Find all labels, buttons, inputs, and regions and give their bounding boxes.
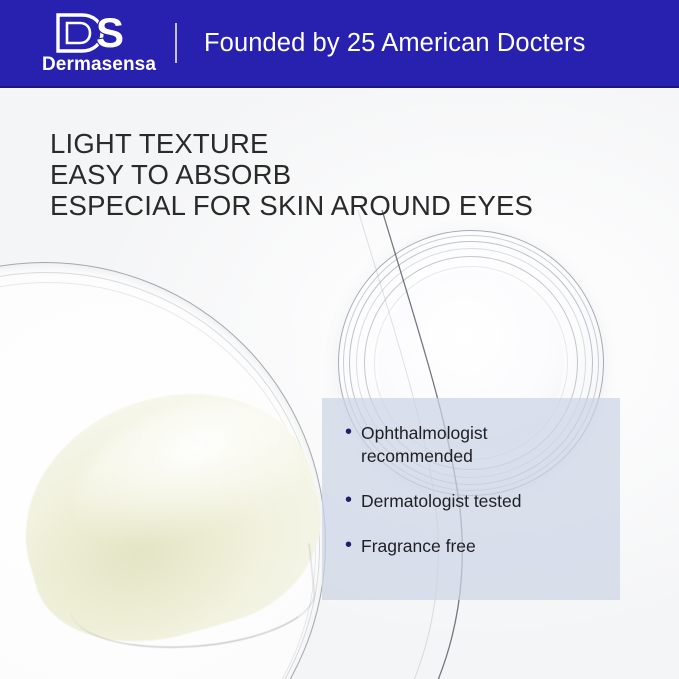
header-banner: S Dermasensa Founded by 25 American Doct… xyxy=(0,0,679,88)
brand-logo[interactable]: S Dermasensa xyxy=(0,0,175,87)
headline-line-2: EASY TO ABSORB xyxy=(50,159,533,190)
claim-text: Dermatologist tested xyxy=(361,490,571,513)
bullet-icon: • xyxy=(345,534,361,556)
bullet-icon: • xyxy=(345,421,361,443)
claim-text: Ophthalmologist recommended xyxy=(361,422,571,468)
banner-tagline: Founded by 25 American Docters xyxy=(204,29,585,58)
banner-divider xyxy=(175,23,177,63)
claim-item: • Dermatologist tested xyxy=(345,490,615,513)
product-ad-image: S Dermasensa Founded by 25 American Doct… xyxy=(0,0,679,679)
headline-line-1: LIGHT TEXTURE xyxy=(50,128,533,159)
svg-text:S: S xyxy=(96,11,124,55)
claim-item: • Ophthalmologist recommended xyxy=(345,422,615,468)
bullet-icon: • xyxy=(345,489,361,511)
headline-line-3: ESPECIAL FOR SKIN AROUND EYES xyxy=(50,190,533,221)
brand-name-text: Dermasensa xyxy=(24,55,174,74)
claim-text: Fragrance free xyxy=(361,535,571,558)
claims-list: • Ophthalmologist recommended • Dermatol… xyxy=(345,422,615,558)
claim-item: • Fragrance free xyxy=(345,535,615,558)
ds-monogram-icon: S xyxy=(52,11,162,55)
headline-block: LIGHT TEXTURE EASY TO ABSORB ESPECIAL FO… xyxy=(50,128,533,221)
